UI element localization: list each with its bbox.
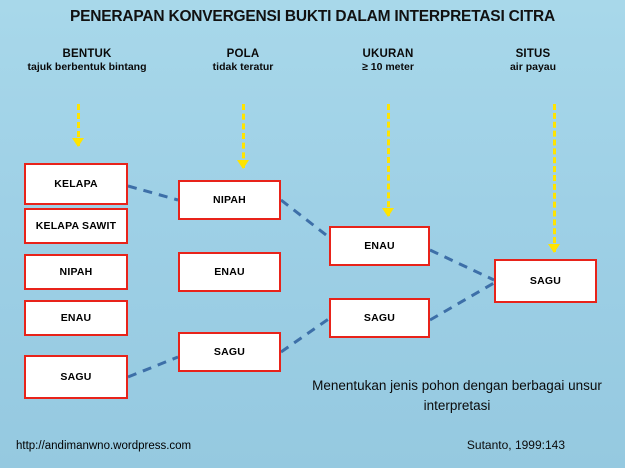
column-header-bentuk: BENTUK tajuk berbentuk bintang [22,48,152,74]
column-header-situs-title: SITUS [468,48,598,60]
column-header-pola: POLA tidak teratur [178,48,308,74]
column-header-bentuk-sub: tajuk berbentuk bintang [22,61,152,74]
page-title: PENERAPAN KONVERGENSI BUKTI DALAM INTERP… [0,8,625,26]
connector-nipah-to-enau [281,200,330,238]
box-enau-col3-label: ENAU [364,240,395,252]
box-enau-col1[interactable]: ENAU [24,300,128,336]
box-sagu-col3-label: SAGU [364,312,395,324]
column-header-ukuran: UKURAN ≥ 10 meter [318,48,458,74]
box-nipah-col1[interactable]: NIPAH [24,254,128,290]
connector-kelapa-to-nipah [128,186,178,200]
column-header-bentuk-title: BENTUK [22,48,152,60]
box-kelapa-sawit-label: KELAPA SAWIT [36,220,117,232]
box-sagu-col2-label: SAGU [214,346,245,358]
arrow-down-bentuk [68,104,88,146]
column-header-situs: SITUS air payau [468,48,598,74]
column-header-ukuran-sub: ≥ 10 meter [318,61,458,74]
box-nipah-col2[interactable]: NIPAH [178,180,281,220]
arrow-down-situs [544,104,564,252]
column-header-ukuran-title: UKURAN [318,48,458,60]
box-kelapa[interactable]: KELAPA [24,163,128,205]
box-enau-col2[interactable]: ENAU [178,252,281,292]
column-header-situs-sub: air payau [468,61,598,74]
arrow-down-pola [233,104,253,168]
box-sagu-col2[interactable]: SAGU [178,332,281,372]
box-enau-col3[interactable]: ENAU [329,226,430,266]
box-enau-col2-label: ENAU [214,266,245,278]
box-sagu-col1[interactable]: SAGU [24,355,128,399]
arrow-down-ukuran [378,104,398,216]
source-credit: Sutanto, 1999:143 [467,438,565,452]
column-header-pola-title: POLA [178,48,308,60]
connector-sagu-to-sagu2 [128,357,178,377]
box-kelapa-label: KELAPA [54,178,98,190]
box-sagu-col3[interactable]: SAGU [329,298,430,338]
box-kelapa-sawit[interactable]: KELAPA SAWIT [24,208,128,244]
column-header-pola-sub: tidak teratur [178,61,308,74]
box-sagu-col4-label: SAGU [530,275,561,287]
box-sagu-col1-label: SAGU [60,371,91,383]
box-nipah-col1-label: NIPAH [60,266,93,278]
box-sagu-col4[interactable]: SAGU [494,259,597,303]
box-enau-col1-label: ENAU [61,312,92,324]
source-url: http://andimanwno.wordpress.com [16,440,191,452]
diagram-caption: Menentukan jenis pohon dengan berbagai u… [307,376,607,416]
connector-sagu2-to-sagu3 [281,318,330,352]
box-nipah-col2-label: NIPAH [213,194,246,206]
connector-sagu3-to-sagu4 [430,283,494,320]
connector-enau3-to-sagu4 [430,250,494,280]
diagram-canvas: PENERAPAN KONVERGENSI BUKTI DALAM INTERP… [0,0,625,468]
